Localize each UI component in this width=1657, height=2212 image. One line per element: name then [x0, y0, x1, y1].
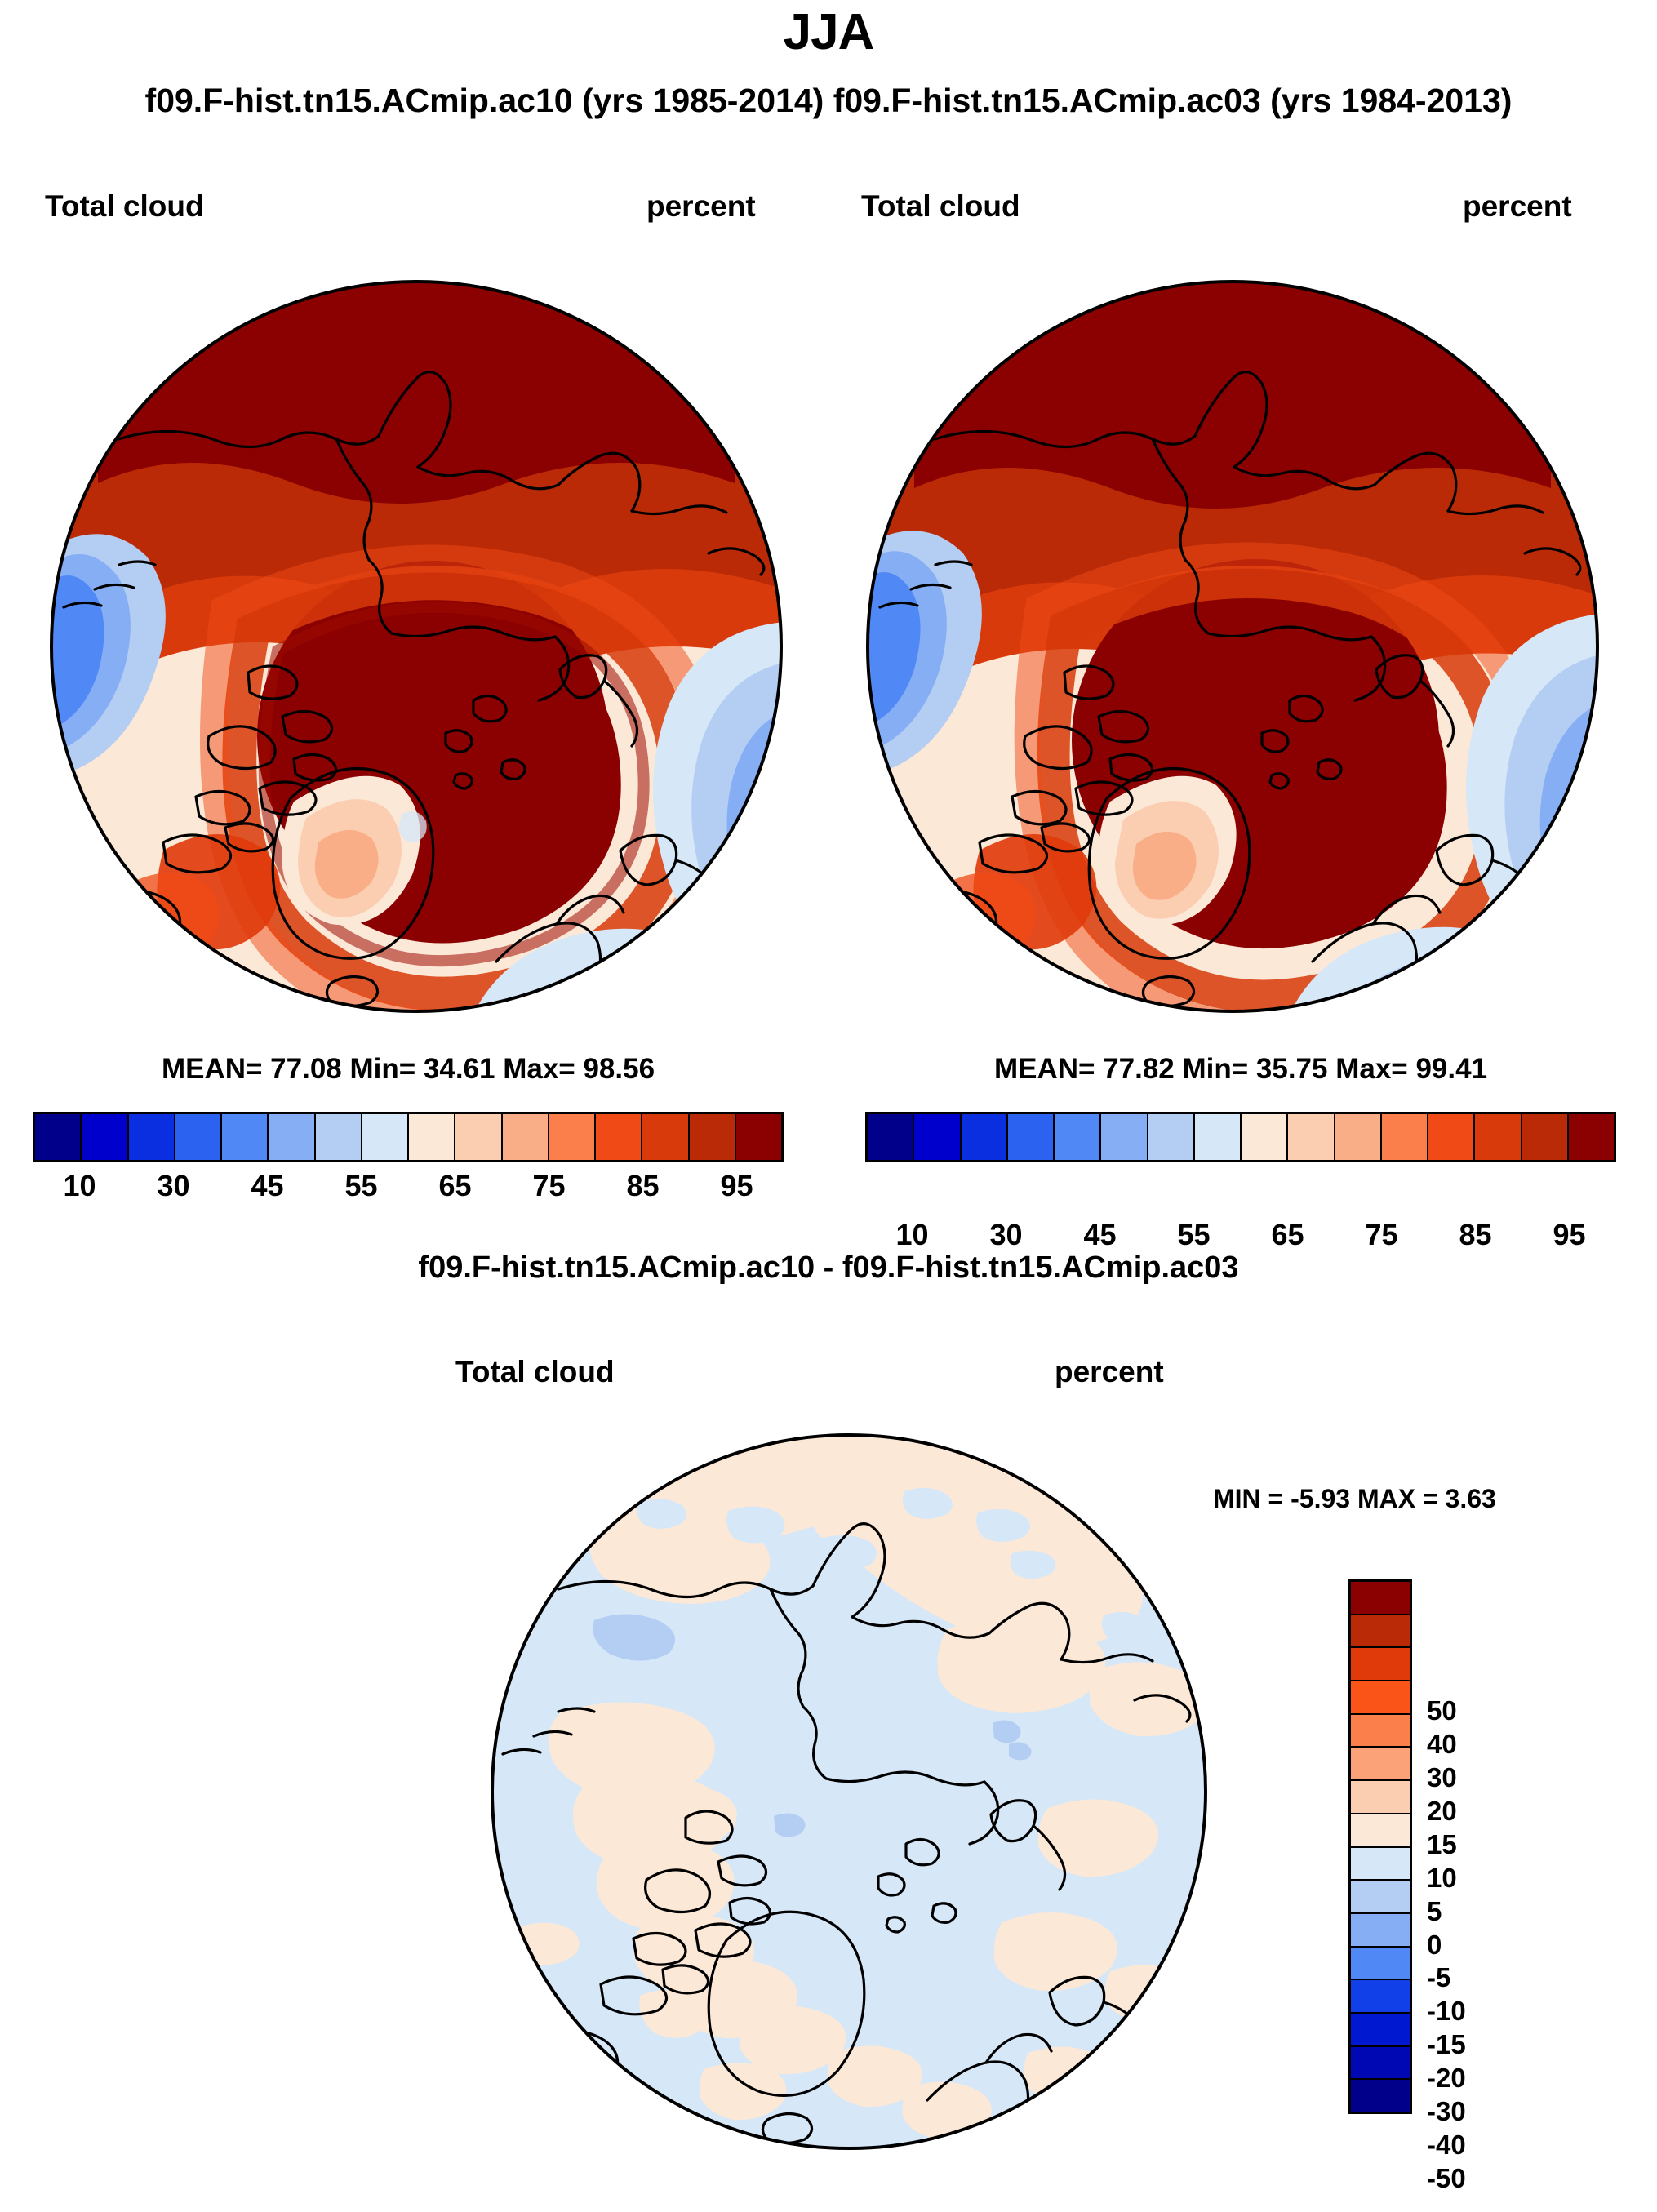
diff-colorbar[interactable]: [1348, 1579, 1412, 2114]
diff-stats: MIN = -5.93 MAX = 3.63: [1213, 1484, 1496, 1514]
colorbar-tick-label: 5: [1427, 1896, 1442, 1927]
colorbar-cell: [1351, 1582, 1410, 1615]
colorbar-cell: [596, 1114, 642, 1160]
colorbar-tick-label: 30: [1427, 1762, 1457, 1793]
colorbar-cell: [1351, 1648, 1410, 1681]
colorbar-cell: [1242, 1114, 1288, 1160]
colorbar-cell: [1475, 1114, 1522, 1160]
colorbar-cell: [503, 1114, 549, 1160]
colorbar-tick-label: 55: [1177, 1218, 1210, 1252]
right-colorbar[interactable]: [865, 1112, 1616, 1162]
diff-variable-label: Total cloud: [455, 1355, 615, 1389]
colorbar-tick-label: 45: [1083, 1218, 1116, 1252]
colorbar-tick-label: 85: [626, 1169, 659, 1203]
colorbar-tick-label: 95: [1553, 1218, 1585, 1252]
colorbar-cell: [1522, 1114, 1569, 1160]
colorbar-cell: [736, 1114, 781, 1160]
colorbar-cell: [175, 1114, 222, 1160]
colorbar-cell: [222, 1114, 269, 1160]
right-units-label: percent: [1463, 189, 1572, 224]
colorbar-cell: [690, 1114, 736, 1160]
right-stats: MEAN= 77.82 Min= 35.75 Max= 99.41: [865, 1053, 1616, 1086]
colorbar-cell: [868, 1114, 914, 1160]
colorbar-cell: [409, 1114, 455, 1160]
colorbar-cell: [1351, 1814, 1410, 1848]
colorbar-cell: [1008, 1114, 1055, 1160]
colorbar-tick-label: 85: [1459, 1218, 1491, 1252]
colorbar-cell: [1351, 1980, 1410, 2014]
colorbar-cell: [1351, 1881, 1410, 1914]
left-variable-label: Total cloud: [45, 189, 204, 224]
colorbar-cell: [914, 1114, 961, 1160]
colorbar-tick-label: -30: [1427, 2096, 1466, 2127]
colorbar-cell: [269, 1114, 315, 1160]
left-stats: MEAN= 77.08 Min= 34.61 Max= 98.56: [33, 1053, 784, 1086]
left-colorbar-ticks: 1030455565758595: [33, 1169, 784, 1218]
colorbar-cell: [1351, 1681, 1410, 1715]
colorbar-cell: [1351, 1914, 1410, 1948]
colorbar-tick-label: 95: [720, 1169, 753, 1203]
colorbar-cell: [1055, 1114, 1101, 1160]
diff-polar-map[interactable]: [490, 1432, 1208, 2151]
colorbar-tick-label: 65: [1271, 1218, 1304, 1252]
colorbar-cell: [1351, 1848, 1410, 1881]
colorbar-cell: [549, 1114, 596, 1160]
colorbar-tick-label: -20: [1427, 2063, 1466, 2094]
colorbar-cell: [1195, 1114, 1242, 1160]
colorbar-cell: [82, 1114, 128, 1160]
colorbar-cell: [1351, 2047, 1410, 2081]
colorbar-cell: [642, 1114, 689, 1160]
colorbar-cell: [1335, 1114, 1382, 1160]
colorbar-cell: [362, 1114, 409, 1160]
left-polar-map[interactable]: [49, 279, 784, 1014]
colorbar-cell: [962, 1114, 1008, 1160]
colorbar-cell: [1351, 1715, 1410, 1748]
colorbar-tick-label: 10: [63, 1169, 96, 1203]
colorbar-cell: [1288, 1114, 1335, 1160]
colorbar-tick-label: 0: [1427, 1930, 1442, 1961]
colorbar-tick-label: 65: [438, 1169, 471, 1203]
colorbar-tick-label: -10: [1427, 1996, 1466, 2027]
colorbar-tick-label: -50: [1427, 2163, 1466, 2194]
colorbar-cell: [1428, 1114, 1475, 1160]
diff-colorbar-ticks: 50403020151050-5-10-15-20-30-40-50: [1427, 1677, 1557, 2212]
colorbar-tick-label: 55: [344, 1169, 377, 1203]
colorbar-cell: [1351, 1748, 1410, 1781]
colorbar-tick-label: -15: [1427, 2029, 1466, 2060]
colorbar-tick-label: 10: [895, 1218, 928, 1252]
colorbar-cell: [1382, 1114, 1428, 1160]
colorbar-tick-label: 10: [1427, 1863, 1457, 1894]
colorbar-tick-label: 15: [1427, 1829, 1457, 1860]
colorbar-tick-label: 30: [989, 1218, 1022, 1252]
colorbar-cell: [316, 1114, 362, 1160]
colorbar-tick-label: 75: [1365, 1218, 1397, 1252]
colorbar-tick-label: -40: [1427, 2130, 1466, 2161]
right-variable-label: Total cloud: [861, 189, 1020, 224]
page-title: JJA: [0, 3, 1657, 61]
colorbar-tick-label: -5: [1427, 1962, 1450, 1993]
case-subtitle: f09.F-hist.tn15.ACmip.ac10 (yrs 1985-201…: [0, 82, 1657, 120]
diff-units-label: percent: [1055, 1355, 1164, 1389]
left-units-label: percent: [646, 189, 756, 224]
colorbar-cell: [1351, 1615, 1410, 1649]
colorbar-tick-label: 75: [532, 1169, 565, 1203]
right-polar-map[interactable]: [865, 279, 1600, 1014]
colorbar-cell: [455, 1114, 502, 1160]
colorbar-tick-label: 30: [157, 1169, 189, 1203]
colorbar-cell: [35, 1114, 82, 1160]
colorbar-cell: [1351, 2080, 1410, 2112]
colorbar-cell: [1351, 2014, 1410, 2047]
colorbar-cell: [1569, 1114, 1614, 1160]
colorbar-cell: [129, 1114, 175, 1160]
colorbar-cell: [1351, 1948, 1410, 1981]
diff-title: f09.F-hist.tn15.ACmip.ac10 - f09.F-hist.…: [0, 1250, 1657, 1286]
colorbar-tick-label: 50: [1427, 1695, 1457, 1726]
colorbar-cell: [1148, 1114, 1195, 1160]
colorbar-cell: [1101, 1114, 1148, 1160]
colorbar-cell: [1351, 1781, 1410, 1814]
colorbar-tick-label: 40: [1427, 1729, 1457, 1760]
colorbar-tick-label: 20: [1427, 1796, 1457, 1827]
left-colorbar[interactable]: [33, 1112, 784, 1162]
colorbar-tick-label: 45: [251, 1169, 283, 1203]
